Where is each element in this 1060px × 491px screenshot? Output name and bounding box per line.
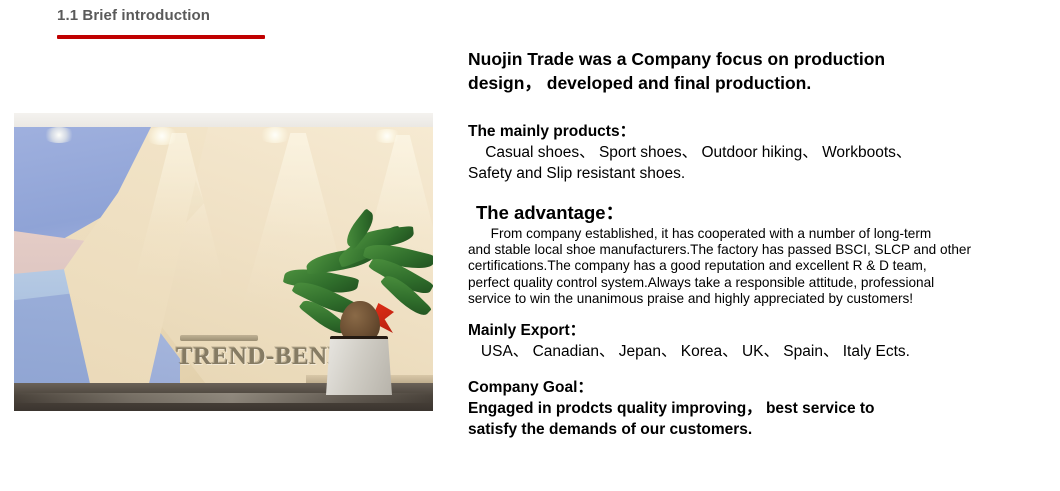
products-line-2: Safety and Slip resistant shoes. bbox=[468, 163, 1028, 184]
intro-title-line-2: design， developed and final production. bbox=[468, 71, 1028, 95]
advantage-heading: The advantage： bbox=[468, 200, 1028, 226]
advantage-line-1: From company established, it has coopera… bbox=[468, 226, 1028, 242]
export-line: USA、 Canadian、 Jepan、 Korea、 UK、 Spain、 … bbox=[468, 341, 1028, 362]
advantage-line-4: perfect quality control system.Always ta… bbox=[468, 275, 1028, 291]
goal-line-1: Engaged in prodcts quality improving， be… bbox=[468, 398, 1028, 419]
spacer bbox=[468, 362, 1028, 378]
spacer bbox=[468, 307, 1028, 321]
photo-potted-plant bbox=[282, 209, 433, 395]
goal-section: Company Goal： Engaged in prodcts quality… bbox=[468, 378, 1028, 440]
spacer bbox=[468, 112, 1028, 122]
advantage-line-2: and stable local shoe manufacturers.The … bbox=[468, 242, 1028, 258]
photo-ceiling-light bbox=[42, 127, 76, 143]
goal-heading: Company Goal： bbox=[468, 378, 1028, 398]
photo-ceiling-light bbox=[258, 127, 292, 143]
section-heading-text: 1.1 Brief introduction bbox=[57, 6, 457, 26]
spacer bbox=[468, 184, 1028, 200]
company-introduction-text: Nuojin Trade was a Company focus on prod… bbox=[468, 47, 1028, 440]
wall-sign-bar bbox=[180, 335, 258, 341]
advantage-section: The advantage： From company established,… bbox=[468, 200, 1028, 307]
export-section: Mainly Export： USA、 Canadian、 Jepan、 Kor… bbox=[468, 321, 1028, 362]
intro-title-line-1: Nuojin Trade was a Company focus on prod… bbox=[468, 47, 1028, 71]
photo-ceiling-light bbox=[144, 127, 180, 145]
goal-line-2: satisfy the demands of our customers. bbox=[468, 419, 1028, 440]
export-heading: Mainly Export： bbox=[468, 321, 1028, 341]
plant-pot bbox=[326, 339, 392, 395]
section-heading-underline bbox=[57, 35, 265, 39]
photo-ceiling-light bbox=[372, 129, 402, 143]
section-heading: 1.1 Brief introduction bbox=[57, 6, 457, 39]
products-line-1: Casual shoes、 Sport shoes、 Outdoor hikin… bbox=[468, 142, 1028, 163]
intro-title: Nuojin Trade was a Company focus on prod… bbox=[468, 47, 1028, 95]
office-lobby-photo: TREND-BENDER bbox=[14, 113, 433, 411]
products-section: The mainly products： Casual shoes、 Sport… bbox=[468, 122, 1028, 184]
products-heading: The mainly products： bbox=[468, 122, 1028, 142]
advantage-line-5: service to win the unanimous praise and … bbox=[468, 291, 1028, 307]
advantage-line-3: certifications.The company has a good re… bbox=[468, 258, 1028, 274]
